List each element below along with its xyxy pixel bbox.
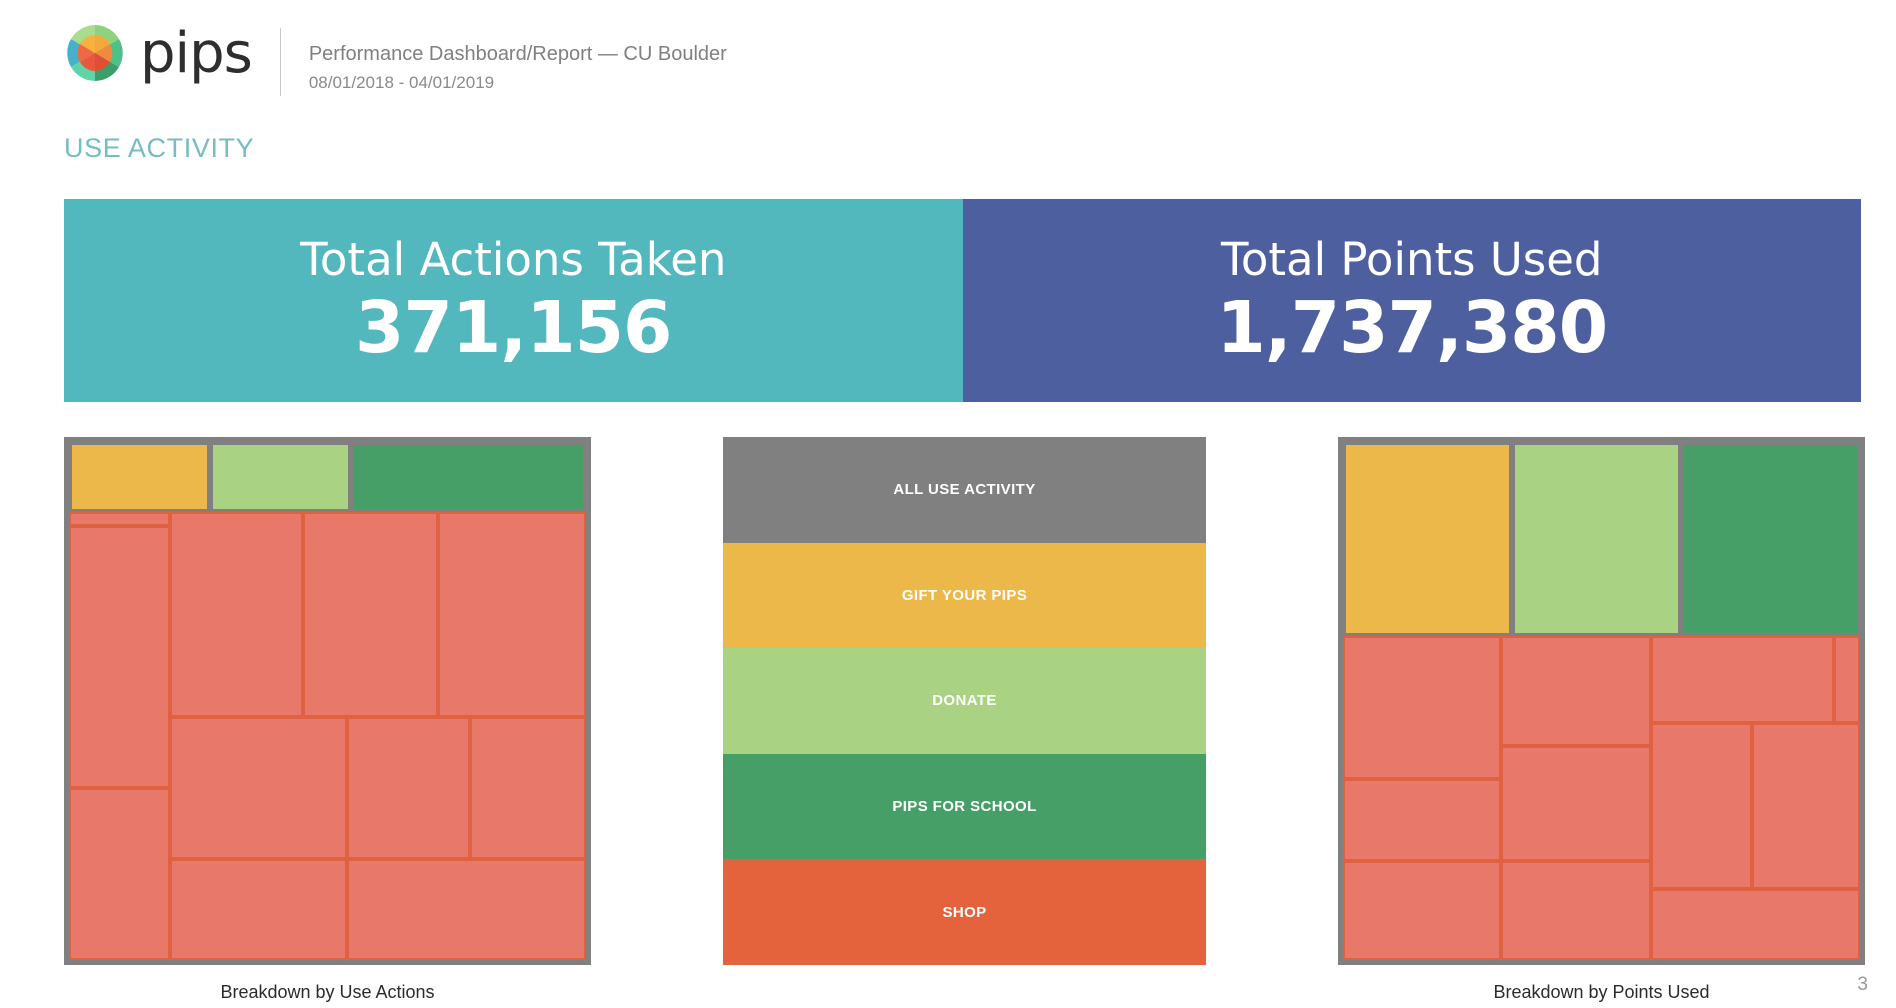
kpi-label: Total Points Used: [1221, 234, 1603, 286]
treemap-cell-gift-your-pips[interactable]: [69, 442, 210, 512]
report-date-range: 08/01/2018 - 04/01/2019: [309, 70, 727, 96]
legend-item-shop[interactable]: SHOP: [723, 859, 1206, 965]
treemap-cell-shop-item[interactable]: [1343, 636, 1501, 778]
treemap-cell-shop-item[interactable]: [470, 717, 586, 859]
treemap-cell-shop-item[interactable]: [69, 526, 170, 788]
treemap-cell-shop-item[interactable]: [1343, 861, 1501, 960]
treemap-cell-shop-item[interactable]: [438, 512, 586, 717]
kpi-value: 371,156: [355, 288, 671, 368]
pips-flower-logo-icon: [64, 22, 126, 84]
treemap-cell-pips-for-school[interactable]: [1681, 442, 1860, 636]
treemap-cell-donate[interactable]: [210, 442, 351, 512]
treemap-plot-area: [1338, 437, 1865, 965]
treemap-cell-shop-item[interactable]: [1501, 636, 1651, 746]
legend-item-gift-your-pips[interactable]: GIFT YOUR PIPS: [723, 543, 1206, 649]
treemap-cell-shop-item[interactable]: [1501, 746, 1651, 860]
treemap-cell-shop-item[interactable]: [69, 512, 170, 527]
treemap-cell-shop-item[interactable]: [1343, 779, 1501, 861]
treemap-cell-donate[interactable]: [1512, 442, 1681, 636]
kpi-total-points-used: Total Points Used 1,737,380: [963, 199, 1862, 402]
kpi-label: Total Actions Taken: [300, 234, 726, 286]
treemap-cell-shop-item[interactable]: [347, 859, 586, 960]
legend-item-all-use-activity[interactable]: ALL USE ACTIVITY: [723, 437, 1206, 543]
page-header: pips Performance Dashboard/Report — CU B…: [64, 22, 727, 96]
section-heading: USE ACTIVITY: [64, 133, 254, 164]
treemap-cell-shop-item[interactable]: [1501, 861, 1651, 960]
treemap-cell-shop-item[interactable]: [1651, 636, 1835, 723]
treemap-caption: Breakdown by Points Used: [1338, 982, 1865, 1003]
kpi-banner: Total Actions Taken 371,156 Total Points…: [64, 199, 1861, 402]
legend-label: SHOP: [942, 904, 986, 921]
kpi-total-actions-taken: Total Actions Taken 371,156: [64, 199, 963, 402]
treemap-points-used: Breakdown by Points Used: [1338, 437, 1865, 1003]
treemap-cell-pips-for-school[interactable]: [351, 442, 586, 512]
treemap-cell-shop-item[interactable]: [1651, 889, 1860, 960]
dashboard-page: pips Performance Dashboard/Report — CU B…: [0, 0, 1896, 1008]
treemap-cell-shop-item[interactable]: [347, 717, 470, 859]
legend-label: ALL USE ACTIVITY: [893, 481, 1035, 498]
treemap-cell-gift-your-pips[interactable]: [1343, 442, 1512, 636]
treemap-cell-shop-item[interactable]: [170, 717, 347, 859]
report-title: Performance Dashboard/Report — CU Boulde…: [309, 40, 727, 68]
legend-label: GIFT YOUR PIPS: [902, 587, 1027, 604]
brand-wordmark: pips: [140, 26, 252, 82]
legend-item-pips-for-school[interactable]: PIPS FOR SCHOOL: [723, 754, 1206, 860]
page-number: 3: [1857, 974, 1868, 996]
treemap-plot-area: [64, 437, 591, 965]
legend-item-donate[interactable]: DONATE: [723, 648, 1206, 754]
header-divider: [280, 28, 281, 96]
treemap-cell-shop-item[interactable]: [1834, 636, 1860, 723]
treemap-cell-shop-item[interactable]: [170, 859, 347, 960]
treemap-cell-shop-item[interactable]: [1752, 723, 1860, 889]
treemap-caption: Breakdown by Use Actions: [64, 982, 591, 1003]
treemap-cell-shop-item[interactable]: [1651, 723, 1753, 889]
header-text-block: Performance Dashboard/Report — CU Boulde…: [309, 40, 727, 96]
treemap-cell-shop-item[interactable]: [69, 788, 170, 960]
treemap-cell-shop-item[interactable]: [303, 512, 438, 717]
treemap-use-actions: Breakdown by Use Actions: [64, 437, 591, 1003]
category-legend: ALL USE ACTIVITY GIFT YOUR PIPS DONATE P…: [723, 437, 1206, 965]
kpi-value: 1,737,380: [1216, 288, 1607, 368]
treemap-cell-shop-item[interactable]: [170, 512, 302, 717]
legend-label: DONATE: [932, 692, 997, 709]
legend-label: PIPS FOR SCHOOL: [892, 798, 1036, 815]
